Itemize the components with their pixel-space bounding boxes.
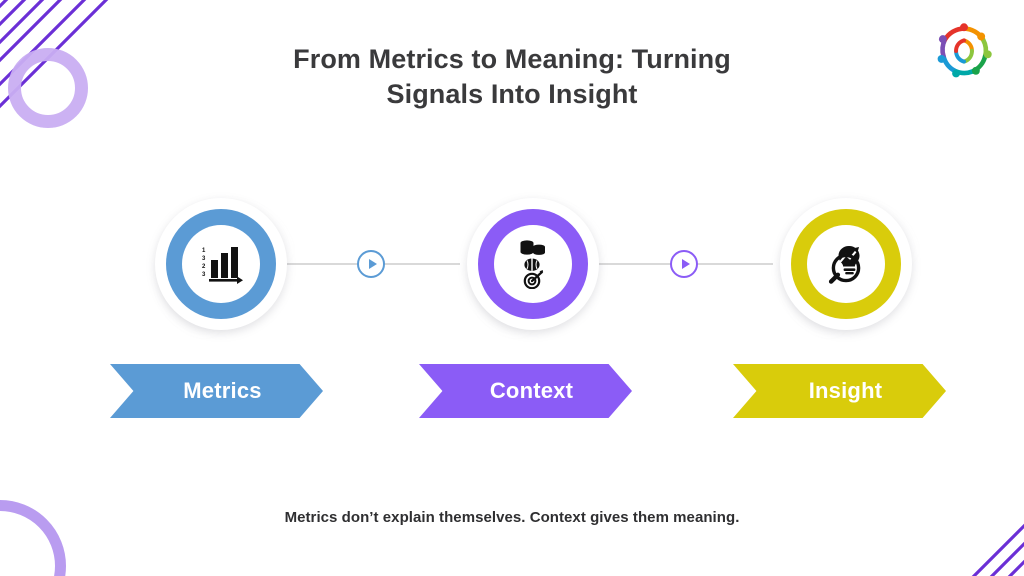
flow-node-insight[interactable] <box>780 198 912 330</box>
banner-insight[interactable]: Insight <box>733 364 946 418</box>
svg-text:3: 3 <box>202 272 206 278</box>
bar-chart-icon: 1 3 2 3 <box>197 240 245 288</box>
stage-banners: Metrics Context Insight <box>0 364 1024 418</box>
play-icon <box>682 259 690 269</box>
context-stack-icon <box>510 239 556 289</box>
banner-label-metrics: Metrics <box>183 378 261 404</box>
page-title-line-2: Signals Into Insight <box>0 77 1024 112</box>
node-inner-disc: 1 3 2 3 <box>182 225 260 303</box>
footer-caption: Metrics don’t explain themselves. Contex… <box>0 509 1024 526</box>
node-inner-disc <box>807 225 885 303</box>
page-title-line-1: From Metrics to Meaning: Turning <box>0 42 1024 77</box>
node-inner-disc <box>494 225 572 303</box>
connector-play-button-1[interactable] <box>357 250 385 278</box>
flow-node-context[interactable] <box>467 198 599 330</box>
svg-text:2: 2 <box>202 264 206 270</box>
banner-metrics[interactable]: Metrics <box>110 364 323 418</box>
banner-label-insight: Insight <box>809 378 883 404</box>
svg-text:1: 1 <box>202 248 206 254</box>
slide-canvas: From Metrics to Meaning: Turning Signals… <box>0 0 1024 576</box>
process-flow: 1 3 2 3 <box>0 198 1024 330</box>
magnifier-lightbulb-icon <box>822 240 870 288</box>
play-icon <box>369 259 377 269</box>
banner-label-context: Context <box>490 378 573 404</box>
flow-node-metrics[interactable]: 1 3 2 3 <box>155 198 287 330</box>
banner-context[interactable]: Context <box>419 364 632 418</box>
connector-play-button-2[interactable] <box>670 250 698 278</box>
svg-text:3: 3 <box>202 256 206 262</box>
page-title: From Metrics to Meaning: Turning Signals… <box>0 42 1024 112</box>
